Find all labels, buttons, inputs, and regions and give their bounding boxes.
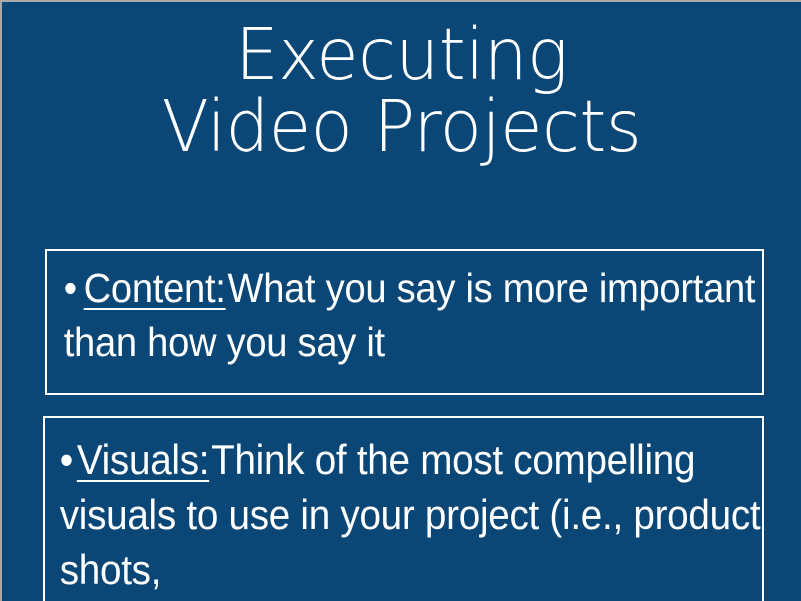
bullet-marker-icon: • [60, 432, 73, 487]
bullet-text-content: •Content:What you say is more important … [47, 251, 764, 369]
bullet-term-visuals: Visuals: [77, 436, 209, 483]
slide-title-line-1: Executing [14, 20, 789, 90]
bullet-marker-icon: • [64, 261, 77, 315]
slide-title-line-2: Video Projects [14, 92, 789, 162]
bullet-box-content: •Content:What you say is more important … [45, 249, 764, 395]
bullet-term-content: Content: [84, 265, 226, 311]
bullet-box-visuals: •Visuals:Think of the most compelling vi… [43, 416, 764, 601]
presentation-slide: Executing Video Projects •Content:What y… [0, 0, 801, 601]
slide-title: Executing Video Projects [2, 20, 801, 163]
bullet-text-visuals: •Visuals:Think of the most compelling vi… [45, 418, 764, 597]
